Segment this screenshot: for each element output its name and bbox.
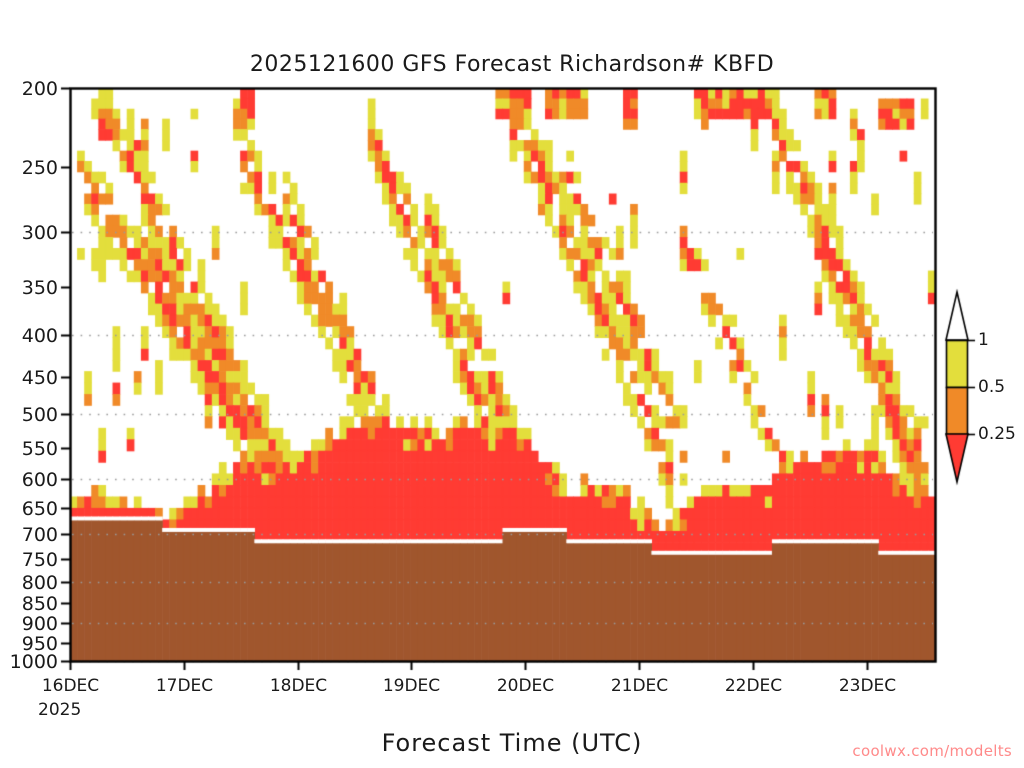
y-axis-tick-label: 1000 — [0, 651, 58, 673]
colorbar-tick-label: 0.25 — [978, 424, 1016, 444]
y-axis-tick-label: 850 — [0, 593, 58, 615]
y-axis-tick-label: 450 — [0, 367, 58, 389]
watermark-link[interactable]: coolwx.com/modelts — [0, 742, 1012, 760]
y-axis-tick-label: 300 — [0, 222, 58, 244]
y-axis-tick-label: 500 — [0, 404, 58, 426]
x-axis-tick-label: 20DEC — [492, 676, 560, 696]
x-axis-tick-label: 18DEC — [265, 676, 333, 696]
colorbar-tick-label: 0.5 — [978, 377, 1005, 397]
x-axis-tick-label: 22DEC — [720, 676, 788, 696]
x-axis-tick-label: 17DEC — [151, 676, 219, 696]
x-axis-year-label: 2025 — [38, 700, 81, 720]
x-axis-tick-label: 21DEC — [606, 676, 674, 696]
richardson-heatmap-canvas — [0, 0, 1024, 768]
chart-container: 2025121600 GFS Forecast Richardson# KBFD… — [0, 0, 1024, 768]
y-axis-tick-label: 400 — [0, 325, 58, 347]
y-axis-tick-label: 900 — [0, 613, 58, 635]
y-axis-tick-label: 600 — [0, 469, 58, 491]
y-axis-tick-label: 350 — [0, 277, 58, 299]
x-axis-tick-label: 16DEC — [37, 676, 105, 696]
y-axis-tick-label: 650 — [0, 498, 58, 520]
y-axis-tick-label: 750 — [0, 549, 58, 571]
y-axis-tick-label: 700 — [0, 524, 58, 546]
y-axis-tick-label: 200 — [0, 78, 58, 100]
page-title: 2025121600 GFS Forecast Richardson# KBFD — [0, 52, 1024, 77]
x-axis-tick-label: 23DEC — [834, 676, 902, 696]
x-axis-tick-label: 19DEC — [378, 676, 446, 696]
y-axis-tick-label: 550 — [0, 438, 58, 460]
y-axis-tick-label: 250 — [0, 157, 58, 179]
y-axis-tick-label: 800 — [0, 572, 58, 594]
colorbar-tick-label: 1 — [978, 330, 989, 350]
